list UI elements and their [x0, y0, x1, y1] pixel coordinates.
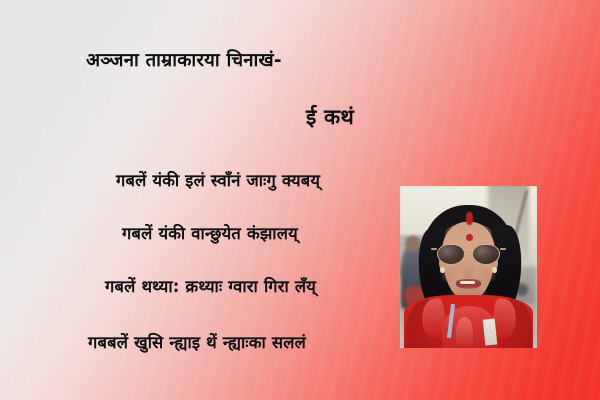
poster-verse-line: गबलें थथ्या: क्रथ्याः ग्वारा गिरा लँय् [105, 274, 316, 297]
sunglasses-lens-left [437, 244, 465, 266]
subject-badge [482, 318, 497, 345]
poster-title: ई कथं [306, 103, 354, 131]
subject-cheek-left [442, 267, 454, 282]
portrait-photo [400, 186, 537, 348]
poster-canvas: अञ्जना ताम्राकारया चिनाखं- ई कथं गबलें य… [0, 0, 600, 400]
subject-sindoor [466, 212, 473, 225]
scarf-fold [456, 317, 472, 348]
sunglasses-lens-right [472, 244, 500, 266]
poster-verse-line: गबबलें खुसि न्ह्याइ थें न्ह्याःका सललं [88, 330, 306, 353]
poster-verse-line: गबलें यंकी इलं स्वाँनं जाःगु क्यबय् [116, 168, 320, 191]
photo-subject [400, 186, 537, 348]
photo-background-scene [400, 186, 537, 348]
poster-verse-line: गबलें यंकी वान्छुयेत कंझालय् [122, 221, 298, 244]
subject-teeth [460, 281, 475, 285]
sunglasses-temple-left [431, 248, 437, 250]
subject-cheek-right [482, 267, 494, 282]
poster-headline: अञ्जना ताम्राकारया चिनाखं- [86, 47, 282, 72]
